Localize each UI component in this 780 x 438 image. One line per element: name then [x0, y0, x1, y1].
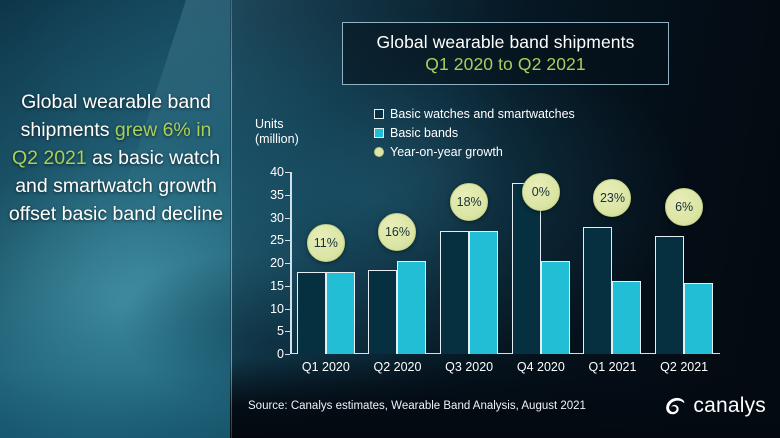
y-tick-label-25: 25: [258, 233, 284, 247]
chart-title-line-2: Q1 2020 to Q2 2021: [425, 54, 585, 75]
legend-label-0: Basic watches and smartwatches: [390, 107, 575, 121]
x-tick-label-2: Q3 2020: [445, 360, 493, 374]
canalys-wordmark: canalys: [693, 394, 766, 418]
bar-group-q2-2021: 6%Q2 2021: [648, 172, 720, 354]
growth-bubble-1: 16%: [378, 213, 416, 251]
bar-group-q2-2020: 16%Q2 2020: [362, 172, 434, 354]
bar-group-q1-2020: 11%Q1 2020: [290, 172, 362, 354]
legend-swatch-light-icon: [374, 128, 384, 138]
bar-pair: [290, 172, 362, 354]
chart-legend: Basic watches and smartwatches Basic ban…: [374, 105, 575, 160]
y-tick-label-30: 30: [258, 211, 284, 225]
legend-item-basic-bands: Basic bands: [374, 124, 575, 141]
y-tick-label-0: 0: [258, 347, 284, 361]
y-axis-units-label: Units (million): [255, 117, 299, 147]
bar-group-q3-2020: 18%Q3 2020: [433, 172, 505, 354]
chart-title-box: Global wearable band shipments Q1 2020 t…: [342, 22, 669, 85]
y-axis-units-line-2: (million): [255, 132, 299, 147]
legend-swatch-circle-icon: [374, 147, 384, 157]
x-tick-label-0: Q1 2020: [302, 360, 350, 374]
y-tick-label-5: 5: [258, 324, 284, 338]
growth-bubble-2: 18%: [450, 183, 488, 221]
source-note: Source: Canalys estimates, Wearable Band…: [248, 400, 586, 412]
chart-plot-area: 0510152025303540 11%Q1 202016%Q2 202018%…: [290, 172, 720, 354]
chart-title-line-1: Global wearable band shipments: [377, 32, 635, 53]
bar-basic-watches-1[interactable]: [368, 270, 397, 354]
x-tick-label-1: Q2 2020: [374, 360, 422, 374]
background-left-lower-fade: [0, 288, 232, 438]
bar-group-q1-2021: 23%Q1 2021: [577, 172, 649, 354]
x-tick-label-3: Q4 2020: [517, 360, 565, 374]
bar-basic-watches-4[interactable]: [583, 227, 612, 354]
canalys-logo: canalys: [663, 394, 766, 418]
bar-basic-watches-0[interactable]: [297, 272, 326, 354]
y-tick-0: [285, 354, 290, 355]
canalys-swirl-icon: [663, 394, 687, 418]
bar-basic-watches-2[interactable]: [440, 231, 469, 354]
y-tick-label-15: 15: [258, 279, 284, 293]
x-tick-label-4: Q1 2021: [589, 360, 637, 374]
legend-item-yoy-growth: Year-on-year growth: [374, 143, 575, 160]
y-tick-label-20: 20: [258, 256, 284, 270]
growth-bubble-3: 0%: [522, 173, 560, 211]
bar-basic-bands-2[interactable]: [469, 231, 498, 354]
vertical-divider: [231, 0, 232, 438]
bar-basic-bands-5[interactable]: [684, 283, 713, 354]
bar-basic-bands-4[interactable]: [612, 281, 641, 354]
bar-basic-bands-0[interactable]: [326, 272, 355, 354]
legend-swatch-dark-icon: [374, 109, 384, 119]
legend-label-1: Basic bands: [390, 126, 458, 140]
growth-bubble-0: 11%: [307, 224, 345, 262]
growth-bubble-5: 6%: [665, 188, 703, 226]
y-tick-label-35: 35: [258, 188, 284, 202]
legend-item-basic-watches: Basic watches and smartwatches: [374, 105, 575, 122]
bar-basic-bands-3[interactable]: [541, 261, 570, 354]
y-axis-units-line-1: Units: [255, 117, 299, 132]
bar-group-q4-2020: 0%Q4 2020: [505, 172, 577, 354]
growth-bubble-4: 23%: [593, 179, 631, 217]
legend-label-2: Year-on-year growth: [390, 145, 503, 159]
infographic-slide: Global wearable band shipments grew 6% i…: [0, 0, 780, 438]
y-tick-label-10: 10: [258, 302, 284, 316]
bar-basic-bands-1[interactable]: [397, 261, 426, 354]
headline-text: Global wearable band shipments grew 6% i…: [8, 88, 224, 228]
x-tick-label-5: Q2 2021: [660, 360, 708, 374]
bar-basic-watches-5[interactable]: [655, 236, 684, 354]
y-axis-tick-labels: 0510152025303540: [254, 172, 284, 354]
y-tick-label-40: 40: [258, 165, 284, 179]
bar-pair: [362, 172, 434, 354]
